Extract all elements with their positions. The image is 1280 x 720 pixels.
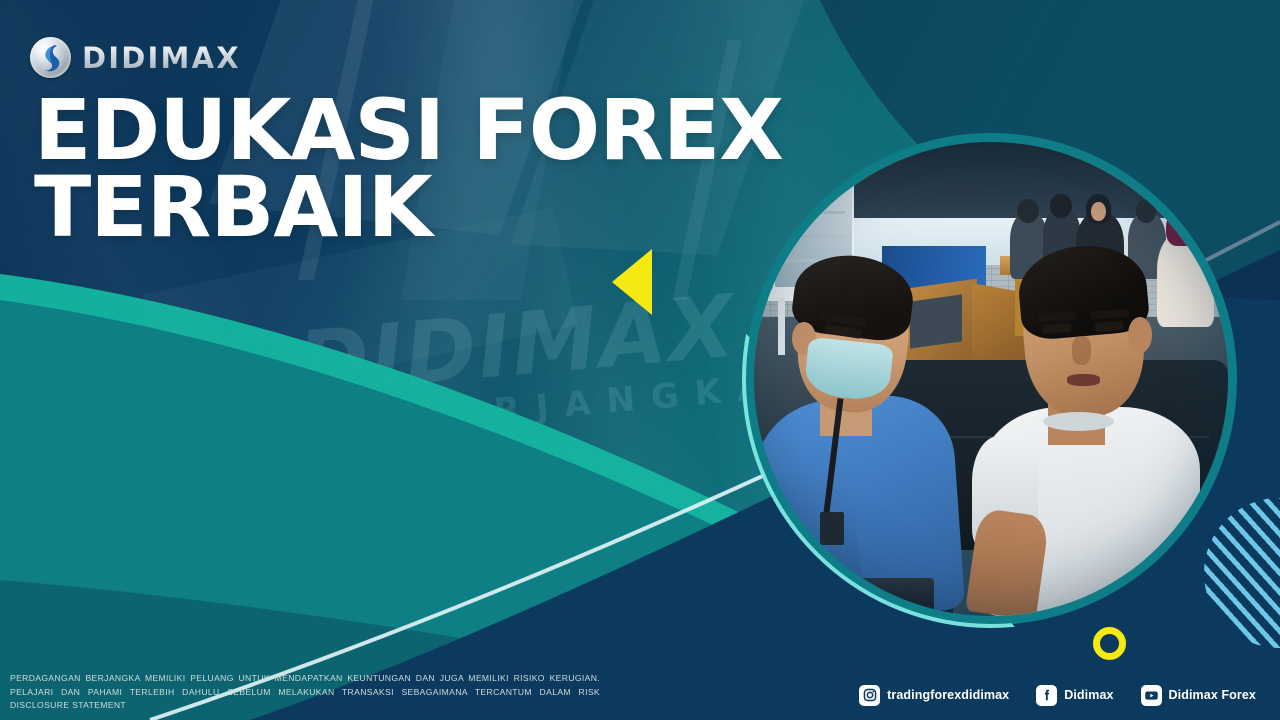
flame-s-icon — [38, 43, 64, 73]
social-youtube[interactable]: Didimax Forex — [1141, 685, 1256, 706]
social-facebook[interactable]: Didimax — [1036, 685, 1113, 706]
risk-disclaimer-text: PERDAGANGAN BERJANGKA MEMILIKI PELUANG U… — [10, 672, 600, 713]
promo-banner: DIDIMAX BERJANGKA DIDIMAX — [0, 0, 1280, 720]
social-media-bar: tradingforexdidimax Didimax Didimax Fore… — [859, 682, 1256, 708]
youtube-icon — [1141, 685, 1162, 706]
facebook-icon — [1036, 685, 1057, 706]
didimax-logo[interactable]: DIDIMAX — [30, 37, 241, 78]
didimax-logo-text: DIDIMAX — [82, 41, 241, 75]
instagram-icon — [859, 685, 880, 706]
youtube-handle: Didimax Forex — [1169, 688, 1256, 702]
instagram-handle: tradingforexdidimax — [887, 688, 1009, 702]
didimax-flame-emblem-icon — [30, 37, 71, 78]
headline-line-2: TERBAIK — [34, 169, 794, 246]
page-title: EDUKASI FOREX TERBAIK — [34, 92, 794, 247]
yellow-ring-icon — [1093, 627, 1126, 660]
facebook-handle: Didimax — [1064, 688, 1113, 702]
social-instagram[interactable]: tradingforexdidimax — [859, 685, 1009, 706]
yellow-left-triangle-icon — [612, 249, 652, 315]
